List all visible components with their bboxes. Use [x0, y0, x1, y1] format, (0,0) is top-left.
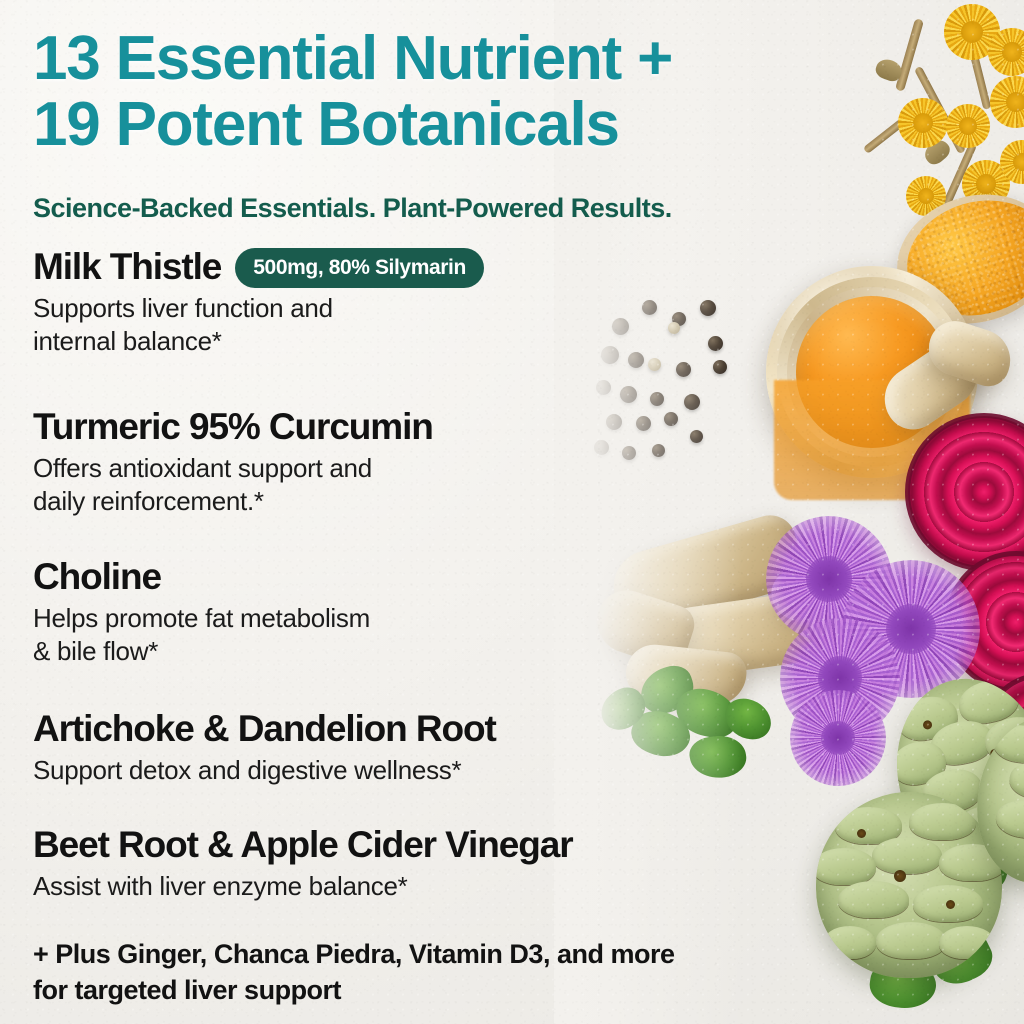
additional-ingredients-note: + Plus Ginger, Chanca Piedra, Vitamin D3…	[33, 936, 833, 1008]
text-content-layer: 13 Essential Nutrient + 19 Potent Botani…	[0, 0, 1024, 1024]
ingredient-description: Assist with liver enzyme balance*	[33, 870, 573, 903]
page-title: 13 Essential Nutrient + 19 Potent Botani…	[33, 26, 873, 158]
ingredient-name: Artichoke & Dandelion Root	[33, 708, 496, 750]
ingredient-description: Support detox and digestive wellness*	[33, 754, 496, 787]
ingredient-name: Beet Root & Apple Cider Vinegar	[33, 824, 573, 866]
headline-line-2: 19 Potent Botanicals	[33, 92, 873, 158]
ingredient-description: Offers antioxidant support and daily rei…	[33, 452, 433, 518]
ingredient-item-artichoke-dandelion: Artichoke & Dandelion Root Support detox…	[33, 708, 496, 787]
ingredient-item-beet-acv: Beet Root & Apple Cider Vinegar Assist w…	[33, 824, 573, 903]
ingredient-title-row: Milk Thistle 500mg, 80% Silymarin	[33, 246, 484, 288]
dosage-badge: 500mg, 80% Silymarin	[235, 248, 484, 288]
ingredient-item-choline: Choline Helps promote fat metabolism & b…	[33, 556, 370, 668]
subheadline: Science-Backed Essentials. Plant-Powered…	[33, 192, 913, 224]
ingredient-name: Milk Thistle	[33, 246, 221, 288]
headline-line-1: 13 Essential Nutrient +	[33, 24, 672, 93]
ingredient-title-row: Beet Root & Apple Cider Vinegar	[33, 824, 573, 866]
ingredient-name: Choline	[33, 556, 161, 598]
ingredient-title-row: Artichoke & Dandelion Root	[33, 708, 496, 750]
ingredient-infographic-poster: 13 Essential Nutrient + 19 Potent Botani…	[0, 0, 1024, 1024]
ingredient-description: Helps promote fat metabolism & bile flow…	[33, 602, 370, 668]
ingredient-title-row: Turmeric 95% Curcumin	[33, 406, 433, 448]
ingredient-description: Supports liver function and internal bal…	[33, 292, 484, 358]
ingredient-name: Turmeric 95% Curcumin	[33, 406, 433, 448]
ingredient-item-turmeric: Turmeric 95% Curcumin Offers antioxidant…	[33, 406, 433, 518]
ingredient-title-row: Choline	[33, 556, 370, 598]
ingredient-item-milk-thistle: Milk Thistle 500mg, 80% Silymarin Suppor…	[33, 246, 484, 358]
